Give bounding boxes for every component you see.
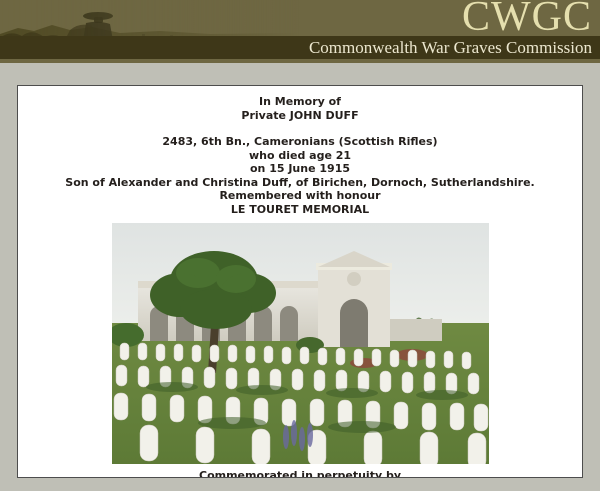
cwgc-logo-text: CWGC <box>462 0 592 38</box>
memorial-photo-image <box>112 223 489 464</box>
page-background: In Memory of Private JOHN DUFF 2483, 6th… <box>0 63 600 491</box>
header-subtitle: Commonwealth War Graves Commission <box>309 37 592 58</box>
site-header: CWGC Commonwealth War Graves Commission <box>0 0 600 63</box>
inscription-spacer <box>18 122 582 135</box>
inscription-line-age: who died age 21 <box>18 149 582 163</box>
inscription-line-service-unit: 2483, 6th Bn., Cameronians (Scottish Rif… <box>18 135 582 149</box>
inscription-line-memorial-name: LE TOURET MEMORIAL <box>18 203 582 217</box>
memorial-inscription: In Memory of Private JOHN DUFF 2483, 6th… <box>18 86 582 216</box>
inscription-line-rank-name: Private JOHN DUFF <box>18 109 582 123</box>
le-touret-memorial-photograph <box>112 223 489 464</box>
footer-line-commemorated: Commemorated in perpetuity by <box>18 469 582 478</box>
inscription-line-family: Son of Alexander and Christina Duff, of … <box>18 176 582 190</box>
inscription-line-date-of-death: on 15 June 1915 <box>18 162 582 176</box>
inscription-line-remembered: Remembered with honour <box>18 189 582 203</box>
inscription-line-in-memory-of: In Memory of <box>18 95 582 109</box>
commemoration-footer: Commemorated in perpetuity by the Common… <box>18 464 582 478</box>
memorial-certificate: In Memory of Private JOHN DUFF 2483, 6th… <box>17 85 583 478</box>
